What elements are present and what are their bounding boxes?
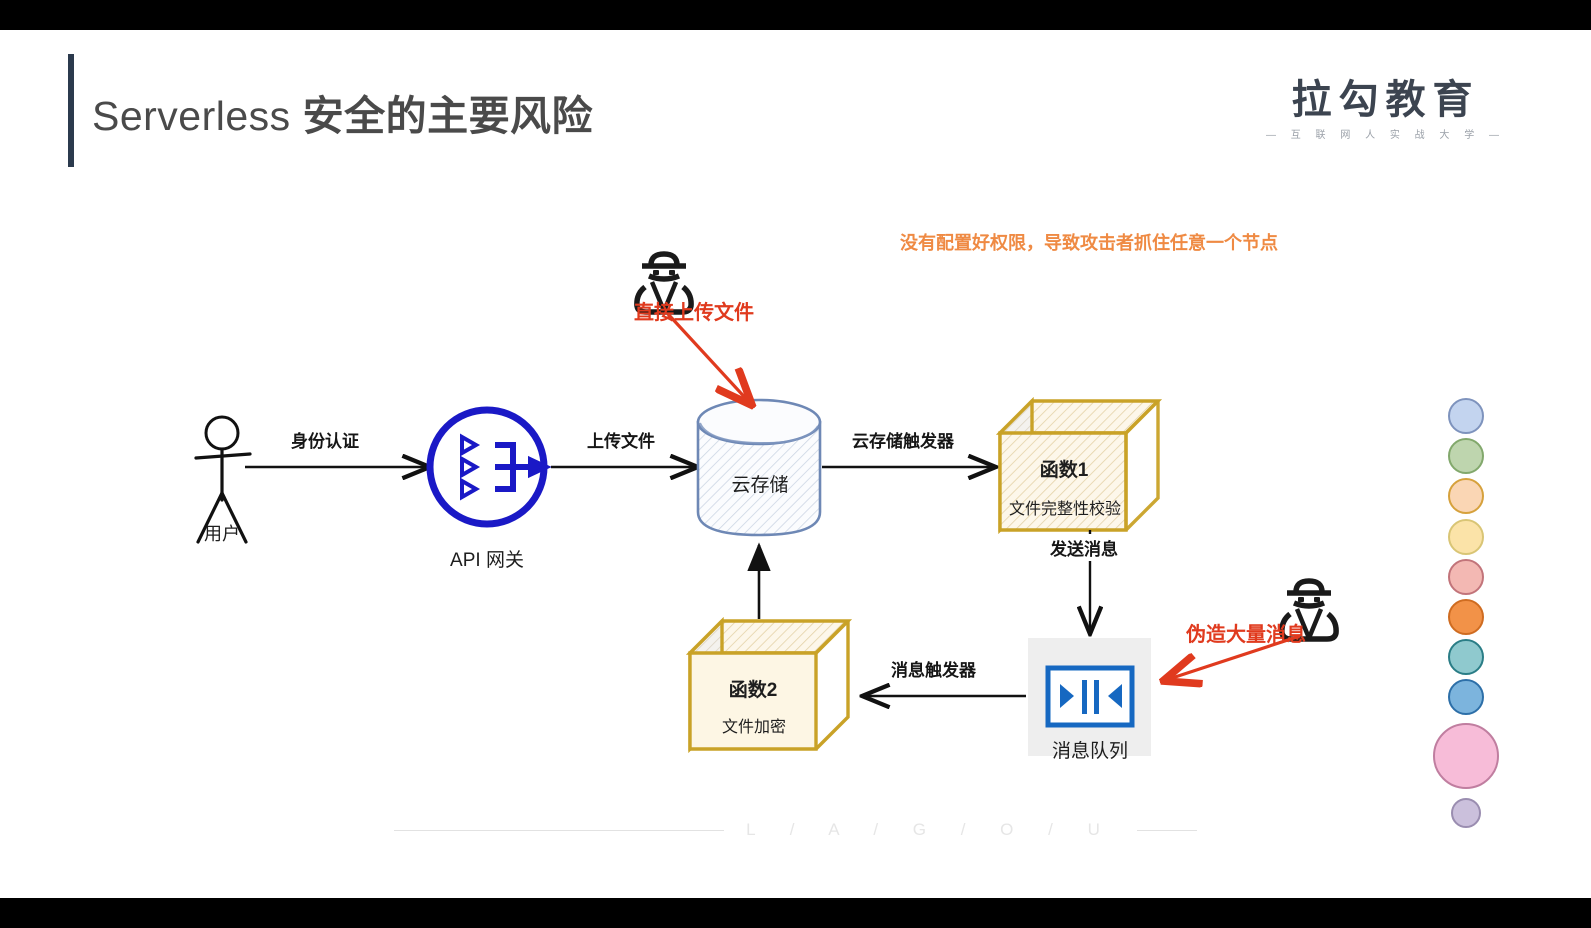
message-queue-label: 消息队列 — [1030, 736, 1150, 763]
alert-permission-label: 没有配置好权限，导致攻击者抓住任意一个节点 — [900, 229, 1278, 255]
edge-label-gateway-to-storage: 上传文件 — [584, 426, 658, 453]
letterbox-bottom — [0, 898, 1591, 928]
swatch-rose[interactable] — [1448, 559, 1484, 595]
function-2-sublabel: 文件加密 — [710, 713, 798, 737]
architecture-diagram: 用户 API 网关 云存储 函数1 文件完整性校验 函数2 文件加密 消息队列 … — [0, 30, 1591, 898]
letterbox-top — [0, 0, 1591, 30]
slide-canvas: Serverless 安全的主要风险 拉勾教育 — 互 联 网 人 实 战 大 … — [0, 30, 1591, 898]
function-1-label: 函数1 — [1033, 455, 1095, 482]
edge-label-queue-to-function2: 消息触发器 — [888, 655, 979, 682]
edge-label-function1-to-queue: 发送消息 — [1047, 534, 1121, 561]
swatch-periwinkle[interactable] — [1448, 398, 1484, 434]
alert-direct-upload-arrow — [668, 314, 750, 403]
cloud-storage-cylinder — [698, 400, 820, 535]
api-gateway-label: API 网关 — [425, 545, 549, 572]
footer-rule-right — [1137, 830, 1197, 831]
swatch-teal[interactable] — [1448, 639, 1484, 675]
function-2-label: 函数2 — [722, 675, 784, 702]
slide-footer: L / A / G / O / U — [0, 820, 1591, 840]
swatch-pink-large[interactable] — [1433, 723, 1499, 789]
alert-forge-messages-label: 伪造大量消息 — [1186, 618, 1306, 647]
user-label: 用户 — [190, 520, 254, 546]
edge-label-storage-to-function1: 云存储触发器 — [849, 426, 957, 453]
alert-direct-upload-label: 直接上传文件 — [634, 296, 754, 325]
swatch-blue[interactable] — [1448, 679, 1484, 715]
swatch-cream[interactable] — [1448, 519, 1484, 555]
attacker-top-eyes — [653, 270, 675, 275]
swatch-peach[interactable] — [1448, 478, 1484, 514]
diagram-vector-layer — [0, 30, 1591, 898]
swatch-orange[interactable] — [1448, 599, 1484, 635]
attacker-bottom-eyes — [1298, 597, 1320, 602]
api-gateway-icon — [430, 410, 547, 524]
swatch-sage[interactable] — [1448, 438, 1484, 474]
footer-brand-text: L / A / G / O / U — [724, 820, 1137, 840]
cloud-storage-label: 云存储 — [705, 470, 815, 497]
edge-label-user-to-gateway: 身份认证 — [288, 426, 362, 453]
footer-rule-left — [394, 830, 724, 831]
function-1-sublabel: 文件完整性校验 — [1003, 495, 1127, 519]
